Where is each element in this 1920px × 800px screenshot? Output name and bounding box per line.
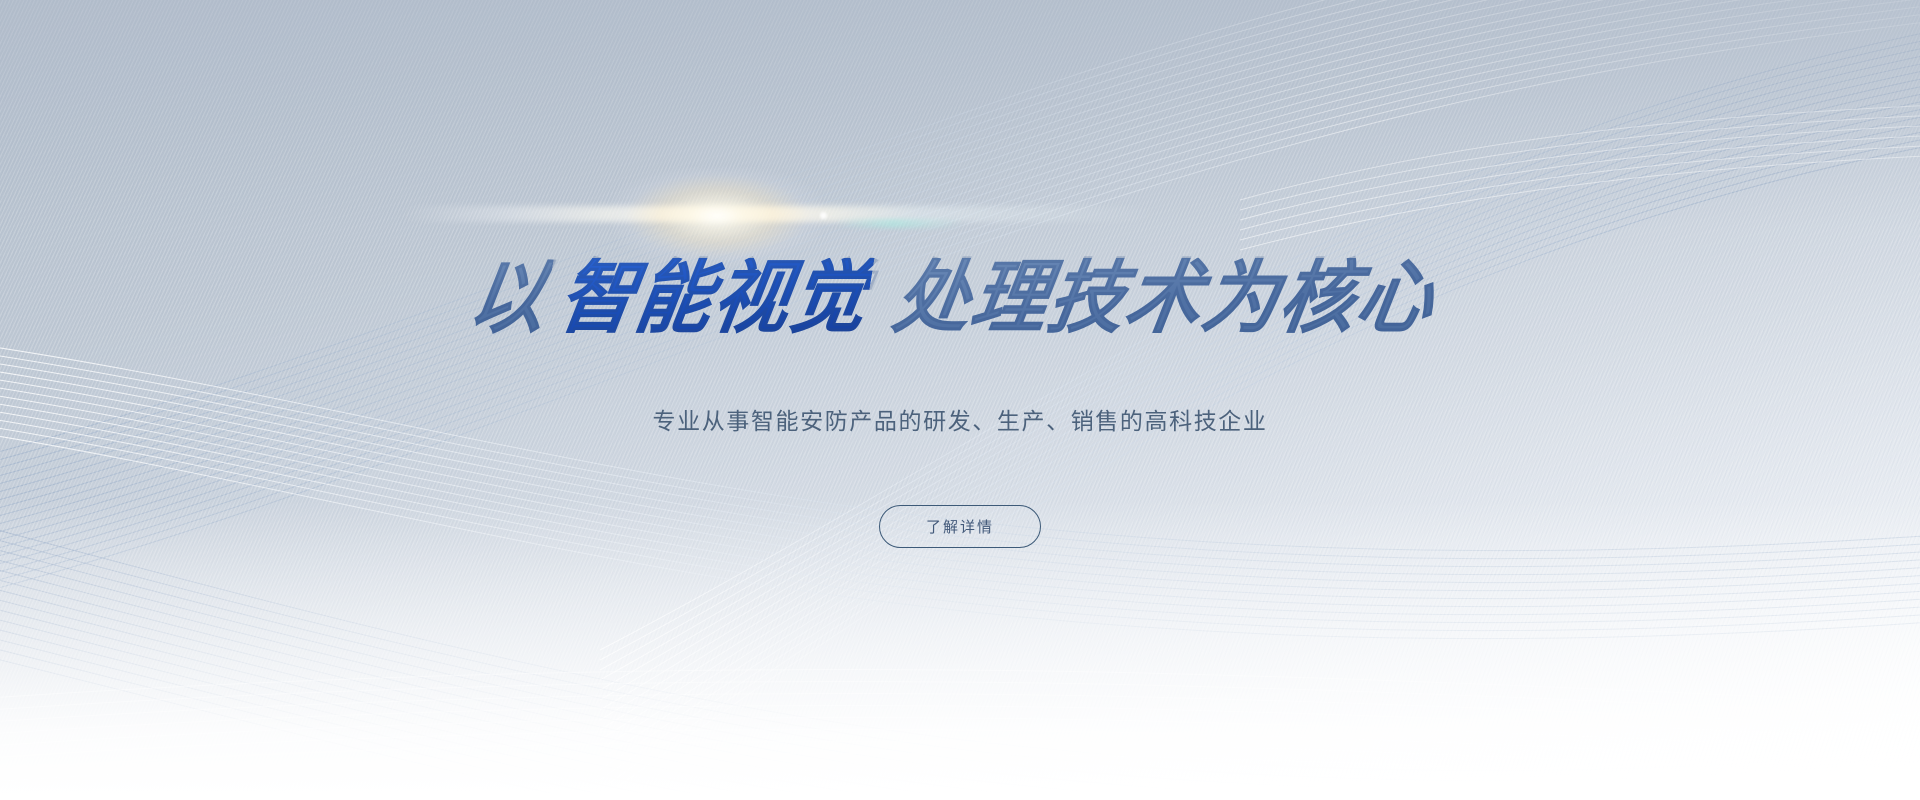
headline-segment-1: 以	[464, 258, 554, 338]
banner-subtitle: 专业从事智能安防产品的研发、生产、销售的高科技企业	[653, 406, 1268, 438]
headline-segment-2: 智能视觉	[554, 258, 875, 338]
banner-headline: 以智能视觉处理技术为核心	[468, 258, 1452, 338]
banner-content: 以智能视觉处理技术为核心 专业从事智能安防产品的研发、生产、销售的高科技企业 了…	[0, 0, 1920, 800]
hero-banner: 以智能视觉处理技术为核心 专业从事智能安防产品的研发、生产、销售的高科技企业 了…	[0, 0, 1920, 800]
learn-more-button[interactable]: 了解详情	[879, 505, 1041, 548]
headline-segment-3: 处理技术为核心	[889, 258, 1441, 338]
